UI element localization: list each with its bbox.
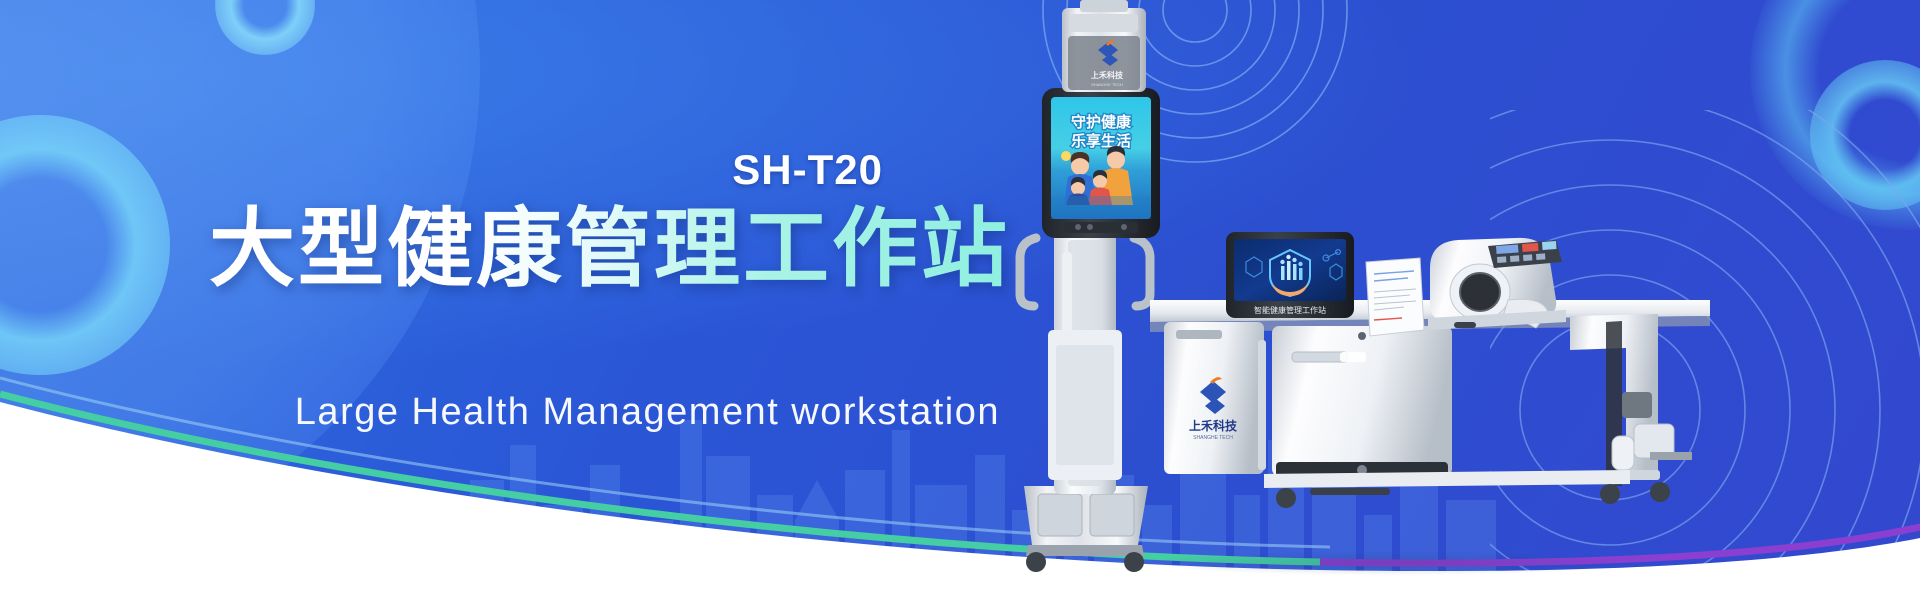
product-banner: SH-T20 大型健康管理工作站 Large Health Management… — [0, 0, 1920, 600]
kiosk-caster-right — [1124, 552, 1144, 572]
kiosk-handle-right — [1134, 238, 1150, 306]
side-printer-unit — [1340, 352, 1366, 362]
product-photo-group: 守护健康 乐享生活 — [1010, 0, 1920, 600]
blood-pressure-monitor — [1428, 238, 1566, 330]
report-printout — [1366, 258, 1424, 336]
kiosk-screen-line2: 乐享生活 — [1071, 132, 1131, 150]
page-subtitle: Large Health Management workstation — [0, 391, 1000, 434]
desk-caster-left — [1276, 488, 1296, 508]
page-title: 大型健康管理工作站 — [0, 203, 1010, 295]
kiosk-brand-name: 上禾科技 — [1091, 70, 1124, 80]
printer-cabinet — [1272, 326, 1452, 476]
desk-caster-far-right — [1650, 482, 1670, 502]
health-kiosk: 守护健康 乐享生活 — [1020, 0, 1160, 572]
desk-caster-right — [1600, 484, 1620, 504]
kiosk-handle-left — [1020, 238, 1036, 306]
kiosk-brand-sub: SHANGHE TECH — [1091, 82, 1123, 87]
product-model-label: SH-T20 — [0, 146, 883, 194]
monitor-caption: 智能健康管理工作站 — [1254, 305, 1326, 315]
kiosk-caster-left — [1026, 552, 1046, 572]
banner-copy: SH-T20 大型健康管理工作站 Large Health Management… — [0, 0, 1040, 600]
workstation-desk: 上禾科技 SHANGHE TECH — [1150, 300, 1710, 508]
workstation-monitor: 智能健康管理工作站 — [1226, 232, 1354, 318]
cabinet-brand-sub: SHANGHE TECH — [1193, 435, 1233, 441]
cabinet-brand-name: 上禾科技 — [1189, 418, 1238, 433]
kiosk-screen-line1: 守护健康 — [1071, 113, 1132, 131]
